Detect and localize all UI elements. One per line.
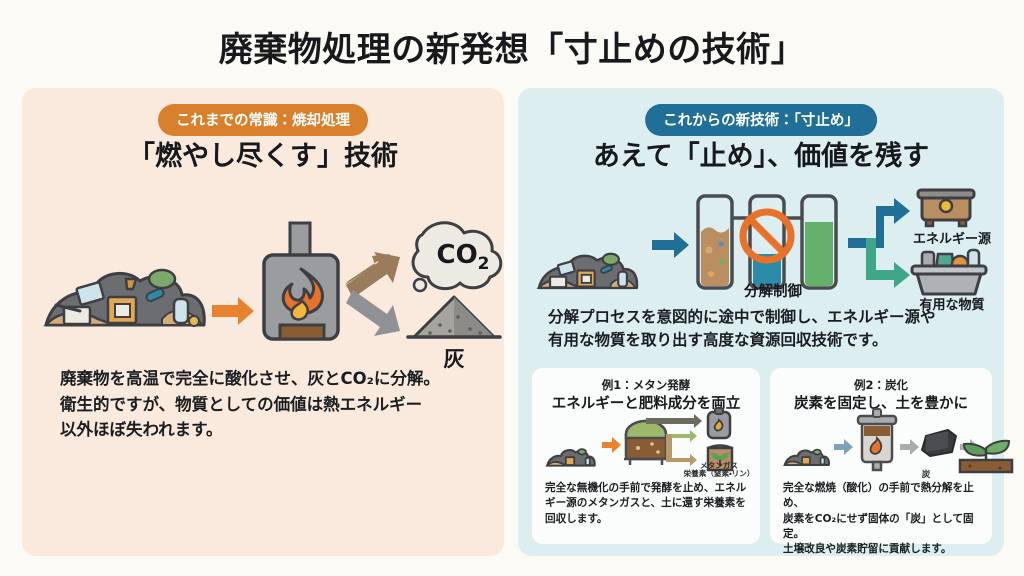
sprout-in-soil-icon xyxy=(960,441,1012,472)
card-1-body: 完全な無機化の手前で発酵を止め、エネル ギー源のメタンガスと、土に還す栄養素を … xyxy=(545,481,747,527)
card-1-eyebrow: 例1：メタン発酵 xyxy=(532,377,760,393)
left-panel-badge: これまでの常識：焼却処理 xyxy=(158,104,368,136)
card-2-body: 完全な燃焼（酸化）の手前で熱分解を止め、 炭素をCO₂にせず固体の「炭」として固… xyxy=(783,481,979,558)
incinerator-icon xyxy=(264,223,338,339)
card-2-eyebrow: 例2：炭化 xyxy=(770,377,992,393)
arrow-into-incinerator-icon xyxy=(212,297,254,325)
left-panel-figure: CO2 灰 xyxy=(22,193,504,353)
card-2-figure xyxy=(770,412,992,476)
left-panel-heading: 「燃やし尽くす」技術 xyxy=(22,134,504,173)
card-1-fertilizer-label: 栄養素（窒素・リン） xyxy=(668,468,770,479)
right-panel-heading: あえて「止め」、価値を残す xyxy=(518,134,1004,173)
waste-pile-icon xyxy=(547,449,594,466)
carbonization-retort-icon xyxy=(858,409,896,470)
arrow-to-ash-icon xyxy=(346,290,400,336)
ash-pile-icon xyxy=(408,297,500,337)
example-card-methane: 例1：メタン発酵 エネルギーと肥料成分を両立 xyxy=(532,368,760,544)
panel-conventional-incineration: これまでの常識：焼却処理 「燃やし尽くす」技術 xyxy=(22,88,504,556)
right-panel-badge: これからの新技術：「寸止め」 xyxy=(645,104,877,136)
card-2-charcoal-label: 炭 xyxy=(906,468,946,480)
generator-icon xyxy=(918,190,974,226)
arrow-1-icon xyxy=(834,439,853,455)
co2-label: CO xyxy=(436,240,477,270)
right-panel-figure: 分解制御 エネルギー源 有用な物質 xyxy=(518,188,1004,300)
example-card-carbonization: 例2：炭化 炭素を固定し、土を豊かに xyxy=(770,368,992,544)
charcoal-block-icon xyxy=(922,430,956,456)
page-title: 廃棄物処理の新発想「寸止めの技術」 xyxy=(0,22,1024,71)
gas-canister-icon xyxy=(708,408,730,438)
energy-source-label: エネルギー源 xyxy=(896,228,1008,247)
arrow-2-icon xyxy=(900,439,919,455)
co2-subscript: 2 xyxy=(478,254,490,274)
left-panel-body: 廃棄物を高温で完全に酸化させ、灰とCO₂に分解。 衛生的ですが、物質としての価値… xyxy=(60,366,480,443)
waste-pile-icon xyxy=(539,254,637,288)
waste-pile-icon xyxy=(46,270,204,326)
panel-new-technology: これからの新技術：「寸止め」 あえて「止め」、価値を残す xyxy=(518,88,1004,556)
card-1-title: エネルギーと肥料成分を両立 xyxy=(532,392,760,413)
arrow-to-digester-icon xyxy=(602,437,621,453)
infographic-canvas: 廃棄物処理の新発想「寸止めの技術」 これまでの常識：焼却処理 「燃やし尽くす」技… xyxy=(0,0,1024,576)
recycling-bin-icon xyxy=(912,250,986,294)
arrow-to-reactor-icon xyxy=(652,232,689,258)
right-panel-body: 分解プロセスを意図的に途中で制御し、エネルギー源や 有用な物質を取り出す高度な資… xyxy=(548,306,980,353)
decomposition-control-label: 分解制御 xyxy=(708,280,838,301)
arrow-branch-up-icon xyxy=(672,430,697,442)
methane-digester-icon xyxy=(624,421,668,465)
waste-pile-icon xyxy=(785,450,829,465)
co2-cloud-icon: CO2 xyxy=(413,223,501,291)
